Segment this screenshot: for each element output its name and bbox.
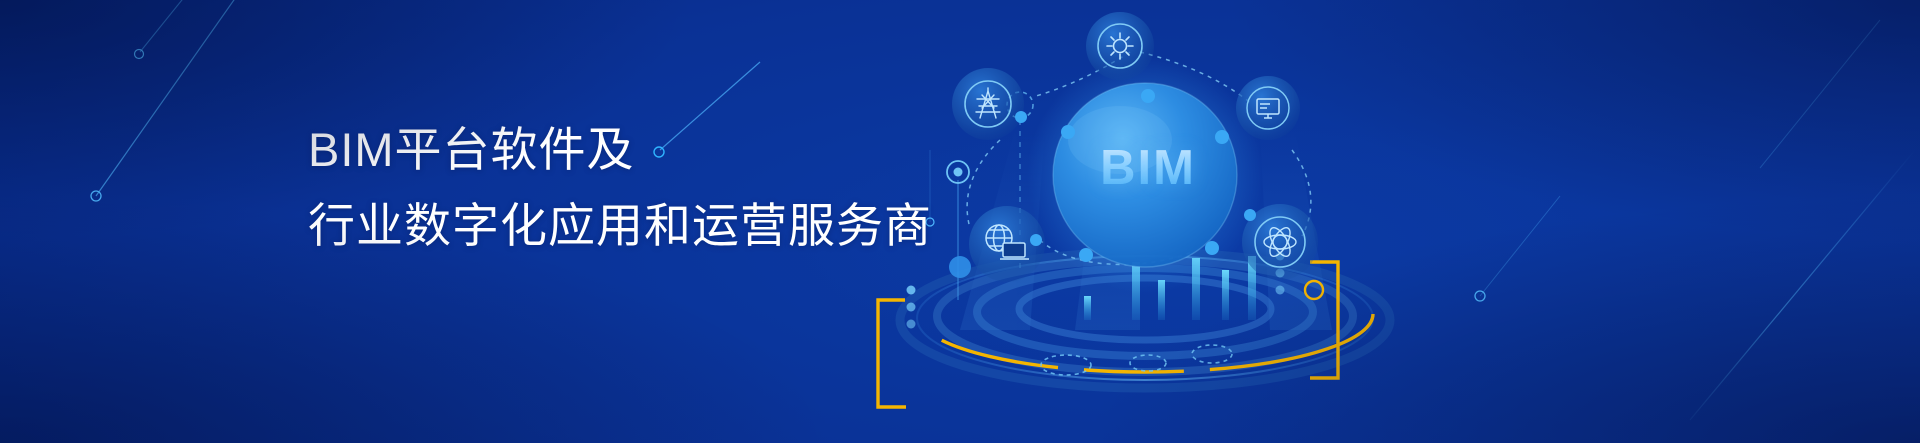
glow-dot — [949, 256, 971, 278]
monitor-node[interactable] — [1236, 76, 1300, 140]
hero-banner: BIM平台软件及 行业数字化应用和运营服务商 — [0, 0, 1920, 443]
network-node[interactable] — [1242, 204, 1318, 280]
globe-laptop-node[interactable] — [969, 206, 1045, 282]
headline-line-2: 行业数字化应用和运营服务商 — [308, 188, 932, 264]
page-title: BIM平台软件及 行业数字化应用和运营服务商 — [308, 112, 932, 264]
bim-illustration: BIM — [840, 0, 1460, 443]
node-dot — [1244, 209, 1256, 221]
gear-node[interactable] — [1086, 12, 1154, 80]
node-dot — [1030, 234, 1042, 246]
headline-line-1: BIM平台软件及 — [308, 112, 932, 188]
power-tower-node[interactable] — [952, 68, 1027, 140]
node-dot — [1015, 111, 1027, 123]
sphere-highlight — [1068, 106, 1172, 174]
